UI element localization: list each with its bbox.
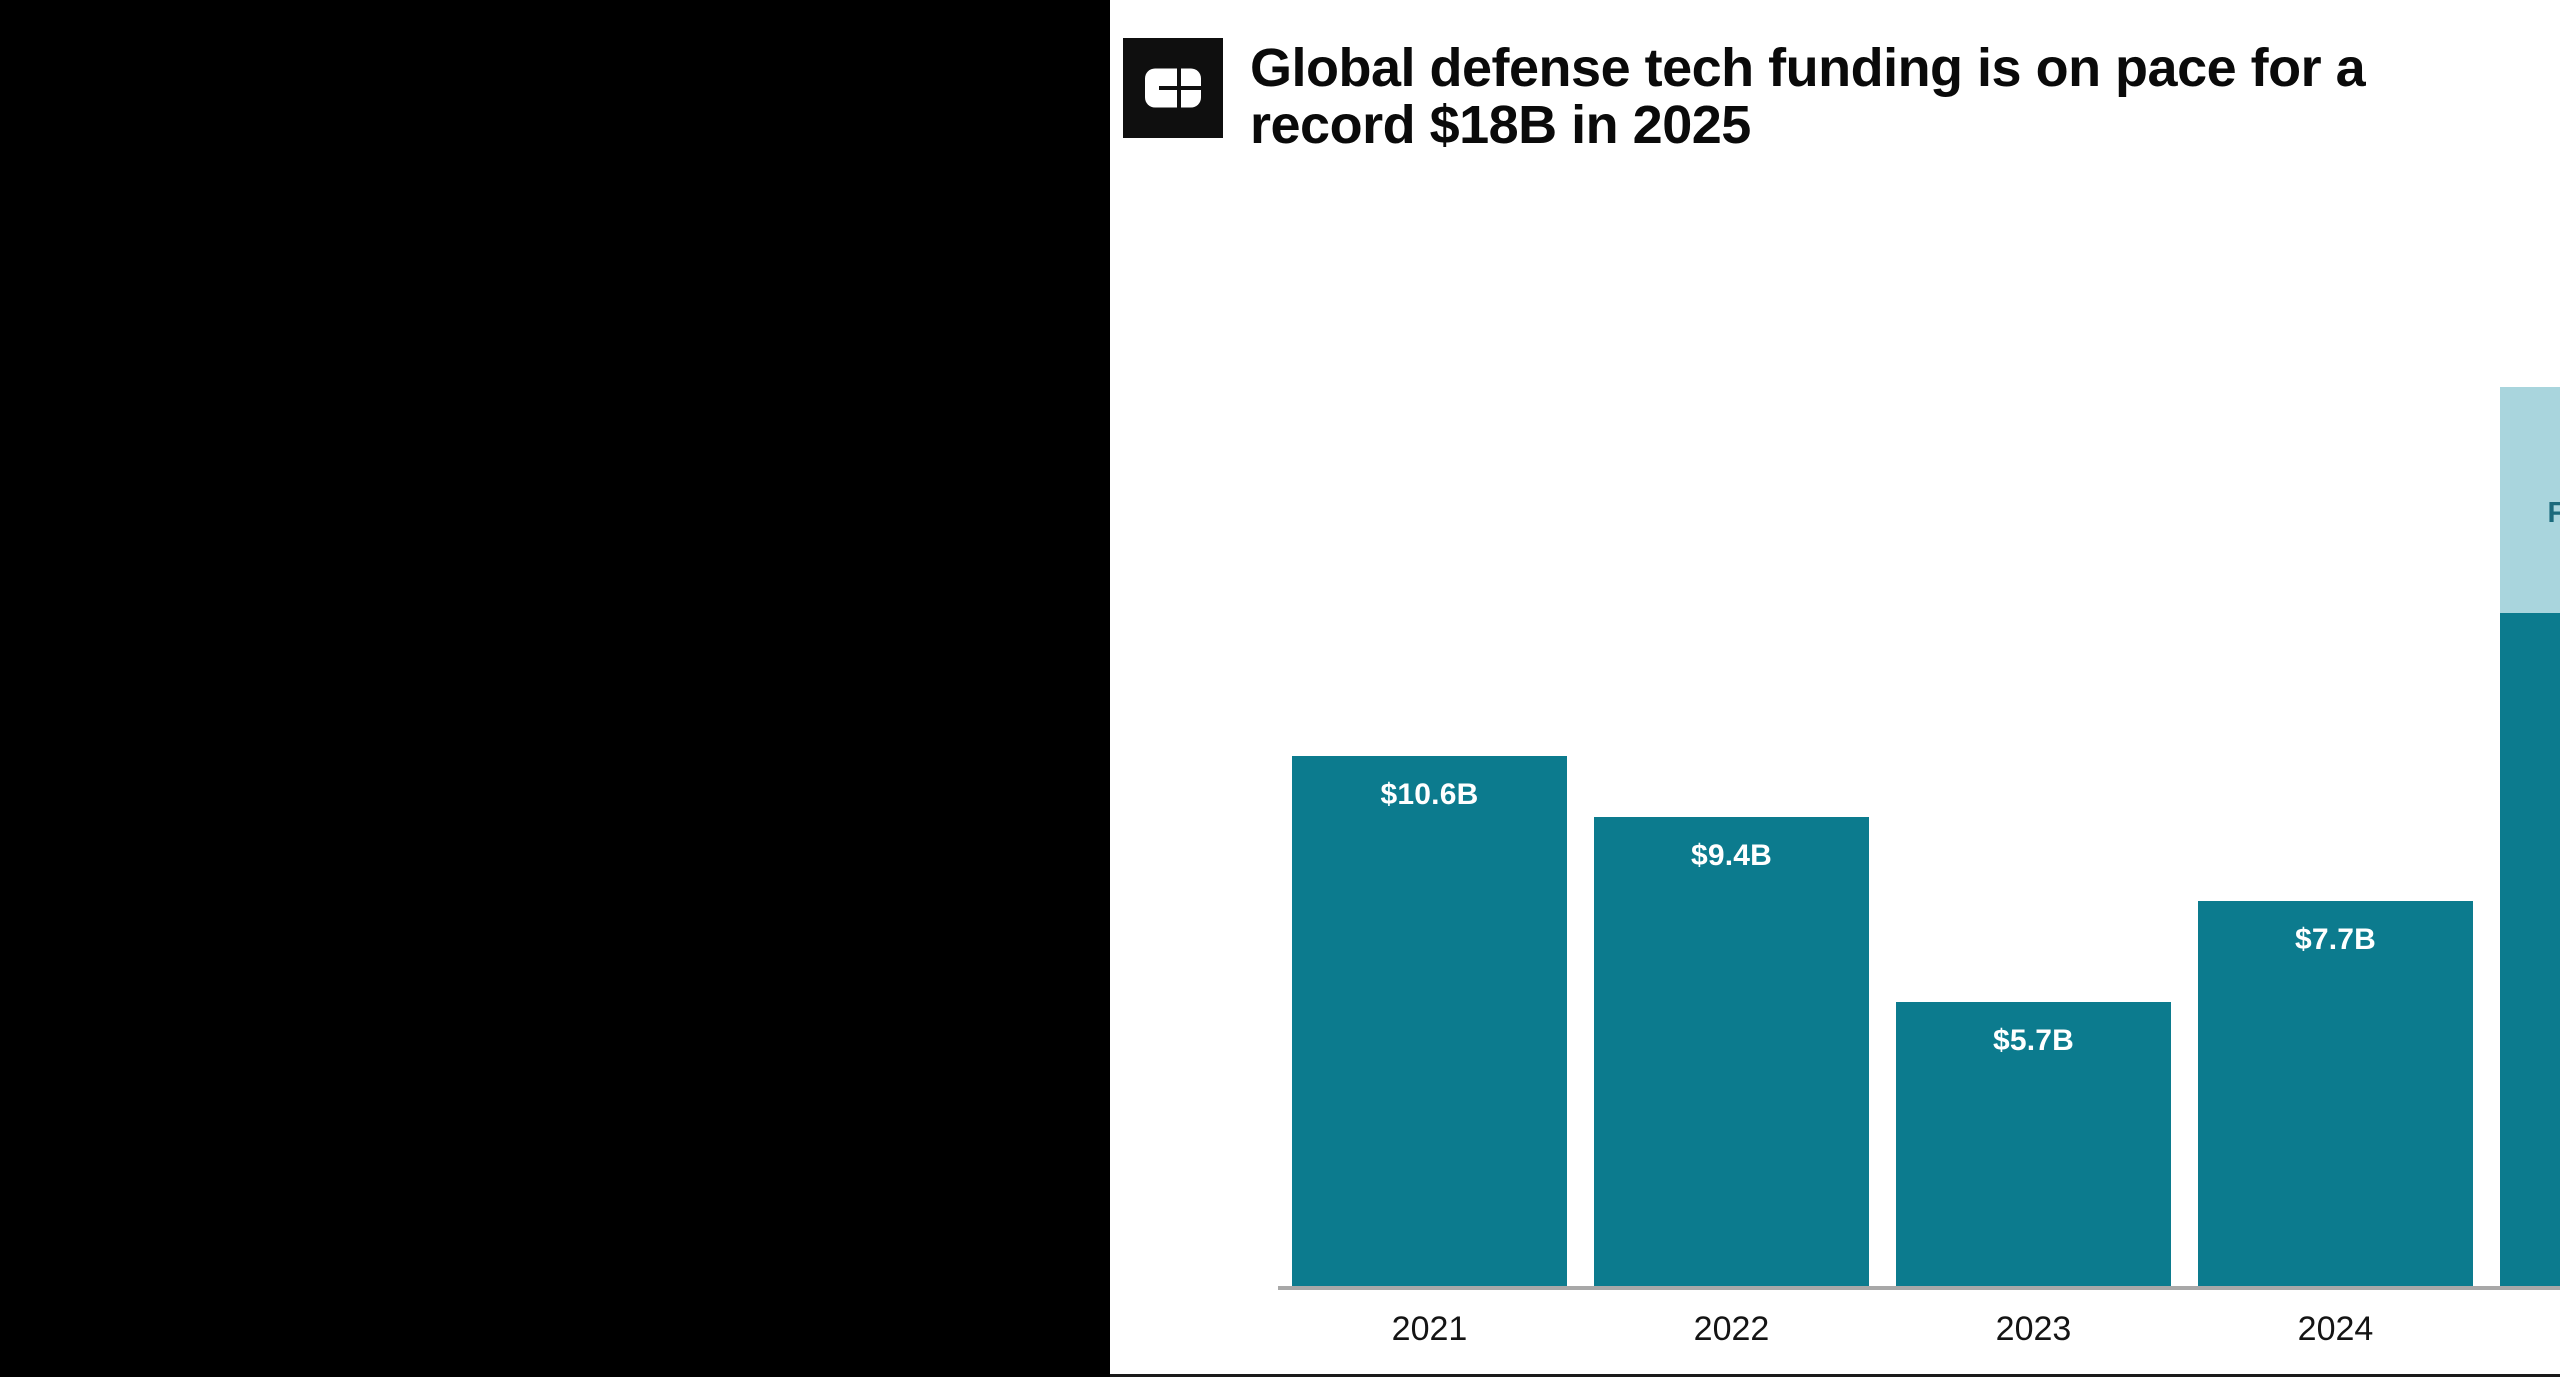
funding-ytd-annotation: Funding YTD $11.9B [2500,497,2560,571]
bar-chart: $10.6B $9.4B [1110,0,2560,1377]
x-axis-line [1278,1286,2560,1290]
bar-slot-2021: $10.6B [1292,170,1567,1288]
bar-slot-2025: Projected $18.0B Funding YTD $11.9B [2500,170,2560,1288]
bar-label-2024: $7.7B [2198,923,2473,957]
bar-2025[interactable]: Funding YTD $11.9B [2500,387,2560,1288]
bar-slot-2023: $5.7B [1896,170,2171,1288]
bar-segment-actual-2021: $10.6B [1292,756,1567,1288]
bar-segment-actual-2022: $9.4B [1594,817,1869,1288]
projected-annotation-label: Projected [2430,313,2560,346]
bar-slot-2022: $9.4B [1594,170,1869,1288]
plot-area: $10.6B $9.4B [1278,170,2560,1290]
bar-label-2023: $5.7B [1896,1024,2171,1058]
bar-2024[interactable]: $7.7B [2198,901,2473,1288]
funding-ytd-value: $11.9B [2500,530,2560,570]
left-black-panel [0,0,1110,1377]
bar-2021[interactable]: $10.6B [1292,756,1567,1288]
bar-segment-actual-2023: $5.7B [1896,1002,2171,1288]
projected-annotation-value: $18.0B [2430,347,2560,387]
x-axis-labels: 2021 2022 2023 2024 2025 [1292,1310,2560,1349]
x-axis-tick-2022: 2022 [1594,1310,1869,1349]
bar-2023[interactable]: $5.7B [1896,1002,2171,1288]
bar-segment-actual-2024: $7.7B [2198,901,2473,1288]
bar-group: $10.6B $9.4B [1292,170,2560,1288]
x-axis-tick-2024: 2024 [2198,1310,2473,1349]
bar-segment-actual-2025 [2500,613,2560,1288]
bar-2022[interactable]: $9.4B [1594,817,1869,1288]
bar-label-2021: $10.6B [1292,778,1567,812]
bar-label-2022: $9.4B [1594,839,1869,873]
content-card: Global defense tech funding is on pace f… [1110,0,2560,1377]
funding-ytd-label: Funding YTD [2500,497,2560,530]
projected-annotation: Projected $18.0B [2430,313,2560,387]
x-axis-tick-2021: 2021 [1292,1310,1567,1349]
x-axis-tick-2023: 2023 [1896,1310,2171,1349]
x-axis-tick-2025: 2025 [2500,1310,2560,1349]
screenshot-root: Global defense tech funding is on pace f… [0,0,2560,1377]
